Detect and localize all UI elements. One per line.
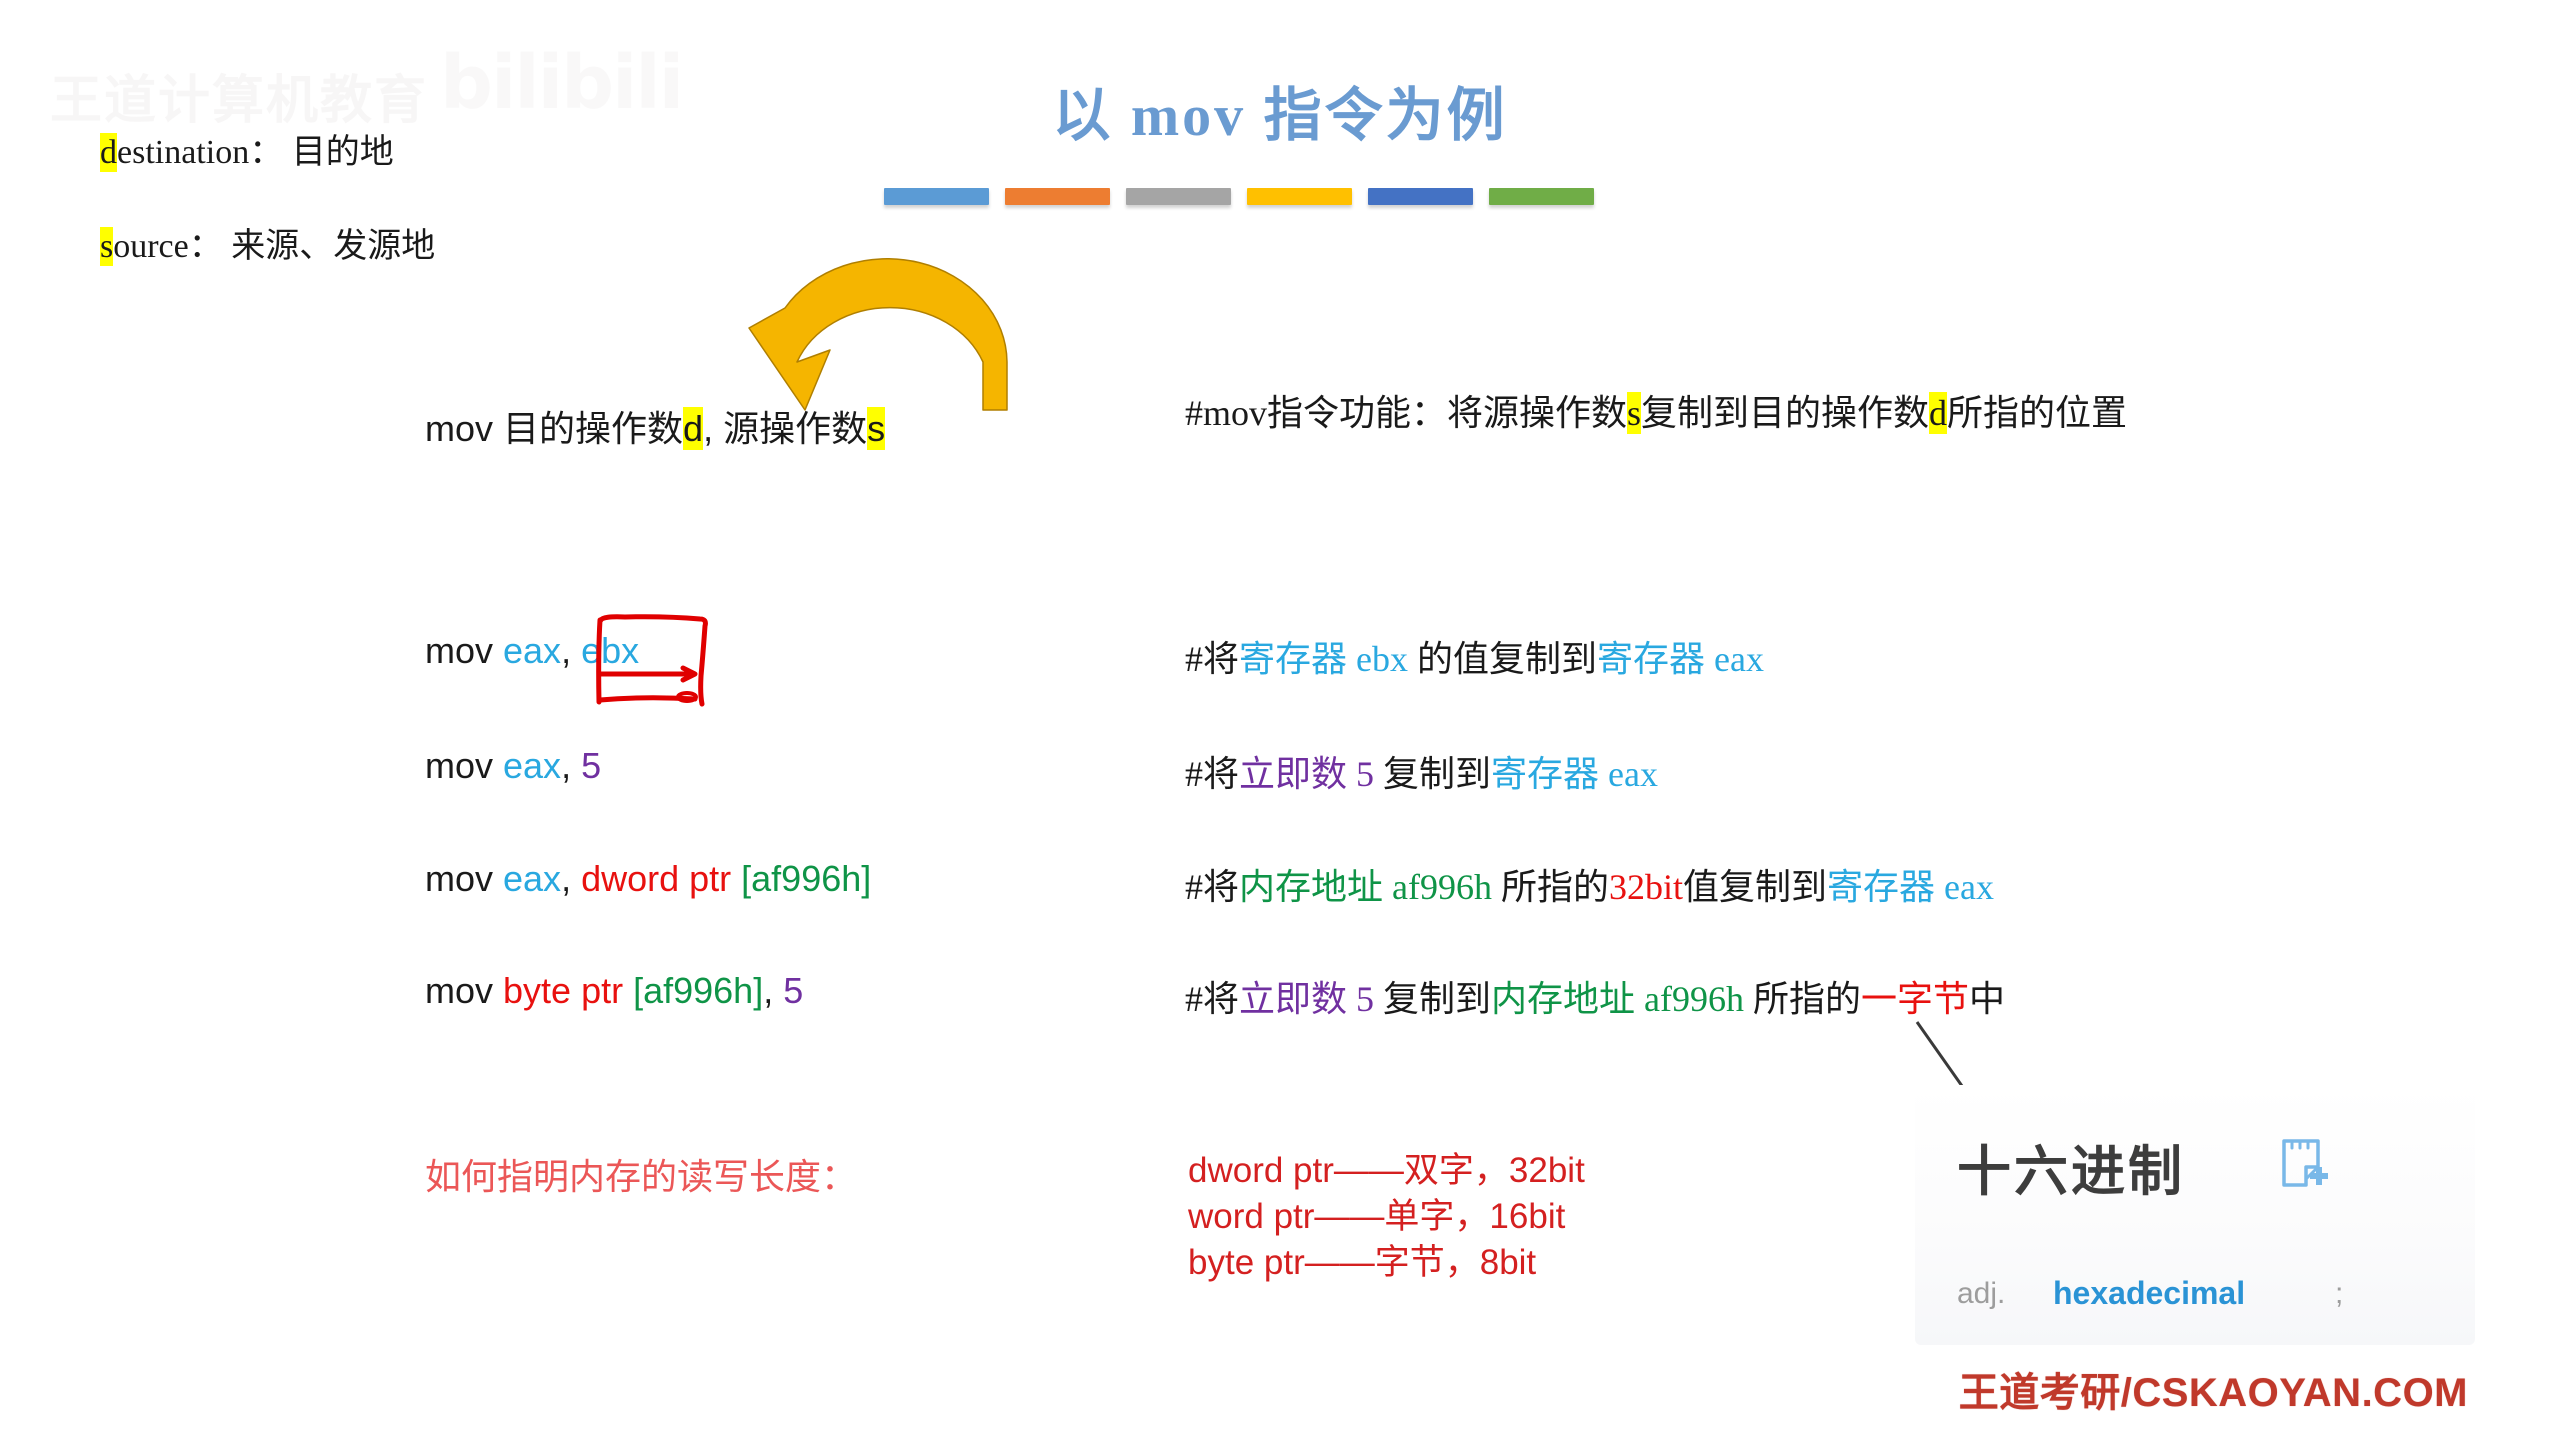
source-rest: ource： <box>113 228 223 265</box>
dictionary-trailing-punct: ; <box>2335 1277 2343 1311</box>
ptr-row-word: word ptr——单字，16bit <box>1188 1194 1585 1240</box>
source-meaning: 来源、发源地 <box>231 228 435 265</box>
memory-length-question: 如何指明内存的读写长度： <box>425 1148 857 1200</box>
destination-highlight-letter: d <box>100 133 117 172</box>
add-note-icon[interactable] <box>2280 1137 2328 1189</box>
expl-3-p4: 32bit <box>1609 867 1683 907</box>
destination-meaning: 目的地 <box>292 134 394 171</box>
func-desc-dest-letter: d <box>1929 392 1947 434</box>
func-desc-prefix: #mov指令功能：将源操作数 <box>1185 393 1627 433</box>
code-3-dest: eax <box>503 858 561 899</box>
expl-3-p6: 寄存器 eax <box>1827 867 1994 907</box>
title-decoration-bars <box>884 188 1594 205</box>
destination-rest: estination： <box>117 134 283 171</box>
explanation-line-4: #将立即数 5 复制到内存地址 af996h 所指的一字节中 <box>1185 970 2005 1022</box>
code-1-mnemonic: mov <box>425 630 503 671</box>
expl-4-p7: 中 <box>1969 979 2005 1019</box>
site-watermark: 王道考研/CSKAOYAN.COM <box>1959 1360 2468 1418</box>
expl-1-p3: 的值复制到 <box>1408 639 1597 679</box>
dictionary-definition[interactable]: hexadecimal <box>2053 1275 2245 1312</box>
syntax-src-operand: 源操作数 <box>723 408 867 449</box>
title-bar-6 <box>1489 188 1594 205</box>
expl-4-p4: 内存地址 af996h <box>1491 979 1744 1019</box>
syntax-mnemonic: mov <box>425 408 503 449</box>
code-3-mnemonic: mov <box>425 858 503 899</box>
code-4-ptr: byte ptr <box>503 970 633 1011</box>
func-desc-suffix: 所指的位置 <box>1947 393 2127 433</box>
explanation-line-1: #将寄存器 ebx 的值复制到寄存器 eax <box>1185 630 1764 682</box>
code-2-src: 5 <box>581 745 601 786</box>
code-4-comma: , <box>763 970 783 1011</box>
slide-canvas: 王道计算机教育 bilibili 以 mov 指令为例 destination：… <box>0 0 2560 1440</box>
code-2-dest: eax <box>503 745 561 786</box>
code-1-src: ebx <box>581 630 639 671</box>
expl-4-p3: 复制到 <box>1374 979 1491 1019</box>
code-1-dest: eax <box>503 630 561 671</box>
expl-3-p2: 内存地址 af996h <box>1239 867 1492 907</box>
title-bar-3 <box>1126 188 1231 205</box>
code-4-src: 5 <box>783 970 803 1011</box>
syntax-dest-operand: 目的操作数 <box>503 408 683 449</box>
expl-4-p5: 所指的 <box>1744 979 1861 1019</box>
expl-4-p2: 立即数 5 <box>1239 979 1374 1019</box>
code-line-3: mov eax, dword ptr [af996h] <box>425 858 871 900</box>
definition-destination: destination： 目的地 <box>100 124 394 173</box>
syntax-separator: , <box>703 408 723 449</box>
code-3-ptr: dword ptr <box>581 858 741 899</box>
expl-4-p1: #将 <box>1185 979 1239 1019</box>
explanation-line-3: #将内存地址 af996h 所指的32bit值复制到寄存器 eax <box>1185 858 1994 910</box>
code-line-1: mov eax, ebx <box>425 630 639 672</box>
definition-source: source： 来源、发源地 <box>100 218 435 267</box>
title-bar-2 <box>1005 188 1110 205</box>
ptr-row-dword: dword ptr——双字，32bit <box>1188 1148 1585 1194</box>
title-bar-5 <box>1368 188 1473 205</box>
expl-2-p1: #将 <box>1185 754 1239 794</box>
expl-2-p3: 复制到 <box>1374 754 1491 794</box>
ptr-row-byte: byte ptr——字节，8bit <box>1188 1240 1585 1286</box>
explanation-line-2: #将立即数 5 复制到寄存器 eax <box>1185 745 1658 797</box>
dictionary-word: 十六进制 <box>1957 1127 2185 1206</box>
expl-1-p4: 寄存器 eax <box>1597 639 1764 679</box>
source-highlight-letter: s <box>100 227 113 266</box>
syntax-src-letter: s <box>867 407 885 450</box>
dictionary-popup[interactable]: 十六进制 adj. hexadecimal ; <box>1915 1085 2475 1345</box>
expl-1-p2: 寄存器 ebx <box>1239 639 1408 679</box>
ptr-size-table: dword ptr——双字，32bit word ptr——单字，16bit b… <box>1188 1148 1585 1287</box>
expl-2-p4: 寄存器 eax <box>1491 754 1658 794</box>
expl-3-p5: 值复制到 <box>1683 867 1827 907</box>
expl-4-p6: 一字节 <box>1861 979 1969 1019</box>
code-line-4: mov byte ptr [af996h], 5 <box>425 970 803 1012</box>
expl-3-p3: 所指的 <box>1492 867 1609 907</box>
code-line-2: mov eax, 5 <box>425 745 601 787</box>
mov-syntax-line: mov 目的操作数d, 源操作数s <box>425 400 885 452</box>
code-2-comma: , <box>561 745 581 786</box>
code-4-mem: [af996h] <box>633 970 763 1011</box>
expl-1-p1: #将 <box>1185 639 1239 679</box>
dictionary-part-of-speech: adj. <box>1957 1277 2005 1311</box>
code-3-comma: , <box>561 858 581 899</box>
title-bar-4 <box>1247 188 1352 205</box>
func-desc-middle: 复制到目的操作数 <box>1641 393 1929 433</box>
expl-3-p1: #将 <box>1185 867 1239 907</box>
expl-2-p2: 立即数 5 <box>1239 754 1374 794</box>
title-bar-1 <box>884 188 989 205</box>
code-1-comma: , <box>561 630 581 671</box>
func-desc-src-letter: s <box>1627 392 1641 434</box>
curved-arrow-icon <box>735 250 1035 415</box>
mov-function-description: #mov指令功能：将源操作数s复制到目的操作数d所指的位置 <box>1185 390 2245 436</box>
code-3-mem: [af996h] <box>741 858 871 899</box>
code-4-mnemonic: mov <box>425 970 503 1011</box>
syntax-dest-letter: d <box>683 407 703 450</box>
code-2-mnemonic: mov <box>425 745 503 786</box>
